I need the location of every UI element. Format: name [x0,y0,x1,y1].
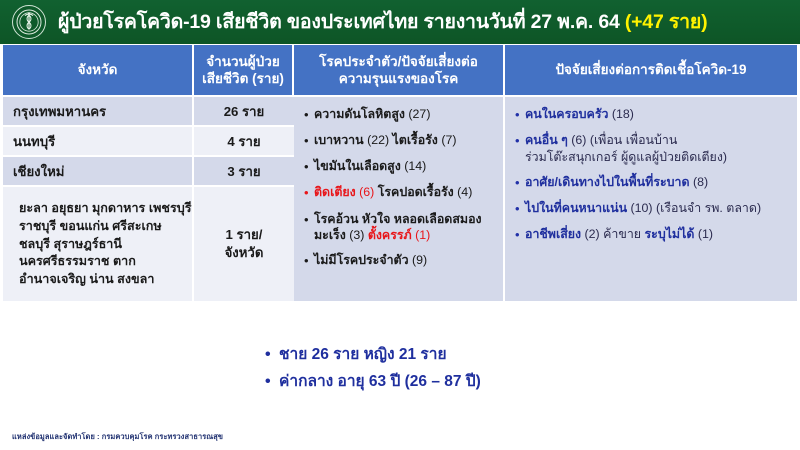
underlying-condition-item: •ความดันโลหิตสูง (27) [302,106,497,123]
infection-risk-line: ร่วมโต๊ะสนุกเกอร์ ผู้ดูแลผู้ป่วยติดเตียง… [525,149,791,165]
underlying-condition-line: เบาหวาน (22) ไตเรื้อรัง (7) [314,132,497,148]
bullet-icon: • [513,226,525,243]
underlying-condition-item: •โรคอ้วน หัวใจ หลอดเลือดสมองมะเร็ง (3) ต… [302,211,497,244]
province-death-count: 26 ราย [194,97,294,127]
province-death-count: 4 ราย [194,127,294,157]
province-count-block: กรุงเทพมหานคร 26 ราย นนทบุรี 4 ราย เชียง… [3,97,294,303]
table-row-multi-province: ยะลา อยุธยา มุกดาหาร เพชรบุรี ราชบุรี ขอ… [3,187,294,303]
underlying-condition-item: •ไขมันในเลือดสูง (14) [302,158,497,175]
underlying-condition-line: ไขมันในเลือดสูง (14) [314,158,497,174]
column-header-province: จังหวัด [3,45,194,97]
underlying-condition-text: ไขมันในเลือดสูง (14) [314,158,497,174]
province-name: นนทบุรี [3,127,194,157]
bullet-icon: • [513,132,525,149]
infographic-page: ผู้ป่วยโรคโควิด-19 เสียชีวิต ของประเทศไท… [0,0,800,450]
infection-risk-line: อาชีพเสี่ยง (2) ค้าขาย ระบุไม่ได้ (1) [525,226,791,242]
ministry-of-public-health-emblem-icon [12,5,46,39]
table-body: กรุงเทพมหานคร 26 ราย นนทบุรี 4 ราย เชียง… [3,97,797,303]
infection-risk-line: ไปในที่คนหนาแน่น (10) (เรือนจำ รพ. ตลาด) [525,200,791,216]
infection-risk-text: อาศัย/เดินทางไปในพื้นที่ระบาด (8) [525,174,791,190]
underlying-condition-text: โรคอ้วน หัวใจ หลอดเลือดสมองมะเร็ง (3) ตั… [314,211,497,244]
summary-item-age: • ค่ากลาง อายุ 63 ปี (26 – 87 ปี) [265,373,665,391]
page-title-main: ผู้ป่วยโรคโควิด-19 เสียชีวิต ของประเทศไท… [58,11,625,33]
source-footer: แหล่งข้อมูลและจัดทำโดย : กรมควบคุมโรค กร… [12,431,223,443]
death-count-line2: จังหวัด [225,244,264,262]
underlying-conditions-cell: •ความดันโลหิตสูง (27)•เบาหวาน (22) ไตเรื… [294,97,505,303]
table-row: กรุงเทพมหานคร 26 ราย [3,97,294,127]
infection-risk-item: •ไปในที่คนหนาแน่น (10) (เรือนจำ รพ. ตลาด… [513,200,791,217]
summary-block: • ชาย 26 ราย หญิง 21 ราย • ค่ากลาง อายุ … [265,346,665,399]
infection-risk-text: ไปในที่คนหนาแน่น (10) (เรือนจำ รพ. ตลาด) [525,200,791,216]
infection-risk-item: •คนในครอบครัว (18) [513,106,791,123]
bullet-icon: • [302,184,314,201]
page-header: ผู้ป่วยโรคโควิด-19 เสียชีวิต ของประเทศไท… [0,0,800,44]
deaths-table: จังหวัด จำนวนผู้ป่วย เสียชีวิต (ราย) โรค… [3,45,797,303]
province-line: ราชบุรี ขอนแก่น ศรีสะเกษ [19,219,182,234]
column-header-death-count-line1: จำนวนผู้ป่วย [202,53,284,70]
province-line: ชลบุรี สุราษฎร์ธานี [19,237,182,252]
underlying-condition-line: ไม่มีโรคประจำตัว (9) [314,252,497,268]
infection-risk-item: •อาศัย/เดินทางไปในพื้นที่ระบาด (8) [513,174,791,191]
column-header-death-count: จำนวนผู้ป่วย เสียชีวิต (ราย) [194,45,294,97]
underlying-condition-line: ติดเตียง (6) โรคปอดเรื้อรัง (4) [314,184,497,200]
column-header-underlying-conditions-line1: โรคประจำตัว/ปัจจัยเสี่ยงต่อ [319,53,478,70]
column-header-death-count-line2: เสียชีวิต (ราย) [202,70,284,87]
province-name-group: ยะลา อยุธยา มุกดาหาร เพชรบุรี ราชบุรี ขอ… [3,187,194,303]
province-death-count: 3 ราย [194,157,294,187]
table-row: เชียงใหม่ 3 ราย [3,157,294,187]
underlying-condition-line: โรคอ้วน หัวใจ หลอดเลือดสมอง [314,211,497,227]
province-name: กรุงเทพมหานคร [3,97,194,127]
infection-risk-item: •คนอื่น ๆ (6) (เพื่อน เพื่อนบ้านร่วมโต๊ะ… [513,132,791,165]
province-line: อำนาจเจริญ น่าน สงขลา [19,272,182,287]
bullet-icon: • [513,106,525,123]
bullet-icon: • [302,252,314,269]
column-header-underlying-conditions-line2: ความรุนแรงของโรค [319,70,478,87]
bullet-icon: • [265,346,279,364]
summary-age-text: ค่ากลาง อายุ 63 ปี (26 – 87 ปี) [279,373,665,390]
table-header-row: จังหวัด จำนวนผู้ป่วย เสียชีวิต (ราย) โรค… [3,45,797,97]
infection-risk-line: อาศัย/เดินทางไปในพื้นที่ระบาด (8) [525,174,791,190]
underlying-condition-line: มะเร็ง (3) ตั้งครรภ์ (1) [314,227,497,243]
bullet-icon: • [302,132,314,149]
infection-risk-line: คนในครอบครัว (18) [525,106,791,122]
infection-risk-item: •อาชีพเสี่ยง (2) ค้าขาย ระบุไม่ได้ (1) [513,226,791,243]
logo-container [0,0,58,44]
province-death-count-group: 1 ราย/ จังหวัด [194,187,294,303]
page-title: ผู้ป่วยโรคโควิด-19 เสียชีวิต ของประเทศไท… [58,0,707,44]
bullet-icon: • [302,158,314,175]
bullet-icon: • [265,373,279,391]
infection-risk-line: คนอื่น ๆ (6) (เพื่อน เพื่อนบ้าน [525,132,791,148]
province-line: ยะลา อยุธยา มุกดาหาร เพชรบุรี [19,201,182,216]
bullet-icon: • [302,211,314,228]
bullet-icon: • [513,174,525,191]
underlying-condition-text: ความดันโลหิตสูง (27) [314,106,497,122]
bullet-icon: • [302,106,314,123]
infection-risk-text: คนในครอบครัว (18) [525,106,791,122]
underlying-condition-item: •ไม่มีโรคประจำตัว (9) [302,252,497,269]
underlying-condition-item: •เบาหวาน (22) ไตเรื้อรัง (7) [302,132,497,149]
column-header-infection-risk: ปัจจัยเสี่ยงต่อการติดเชื้อโควิด-19 [505,45,797,97]
province-line: นครศรีธรรมราช ตาก [19,254,182,269]
province-name: เชียงใหม่ [3,157,194,187]
bullet-icon: • [513,200,525,217]
underlying-condition-item: •ติดเตียง (6) โรคปอดเรื้อรัง (4) [302,184,497,201]
table-row: นนทบุรี 4 ราย [3,127,294,157]
column-header-underlying-conditions: โรคประจำตัว/ปัจจัยเสี่ยงต่อ ความรุนแรงขอ… [294,45,505,97]
summary-item-gender: • ชาย 26 ราย หญิง 21 ราย [265,346,665,364]
infection-risk-text: คนอื่น ๆ (6) (เพื่อน เพื่อนบ้านร่วมโต๊ะส… [525,132,791,165]
page-title-highlight: (+47 ราย) [625,11,708,33]
underlying-condition-text: เบาหวาน (22) ไตเรื้อรัง (7) [314,132,497,148]
infection-risk-text: อาชีพเสี่ยง (2) ค้าขาย ระบุไม่ได้ (1) [525,226,791,242]
underlying-condition-text: ติดเตียง (6) โรคปอดเรื้อรัง (4) [314,184,497,200]
death-count-line1: 1 ราย/ [226,226,263,244]
summary-gender-text: ชาย 26 ราย หญิง 21 ราย [279,346,665,363]
underlying-condition-text: ไม่มีโรคประจำตัว (9) [314,252,497,268]
infection-risk-cell: •คนในครอบครัว (18)•คนอื่น ๆ (6) (เพื่อน … [505,97,797,303]
underlying-condition-line: ความดันโลหิตสูง (27) [314,106,497,122]
